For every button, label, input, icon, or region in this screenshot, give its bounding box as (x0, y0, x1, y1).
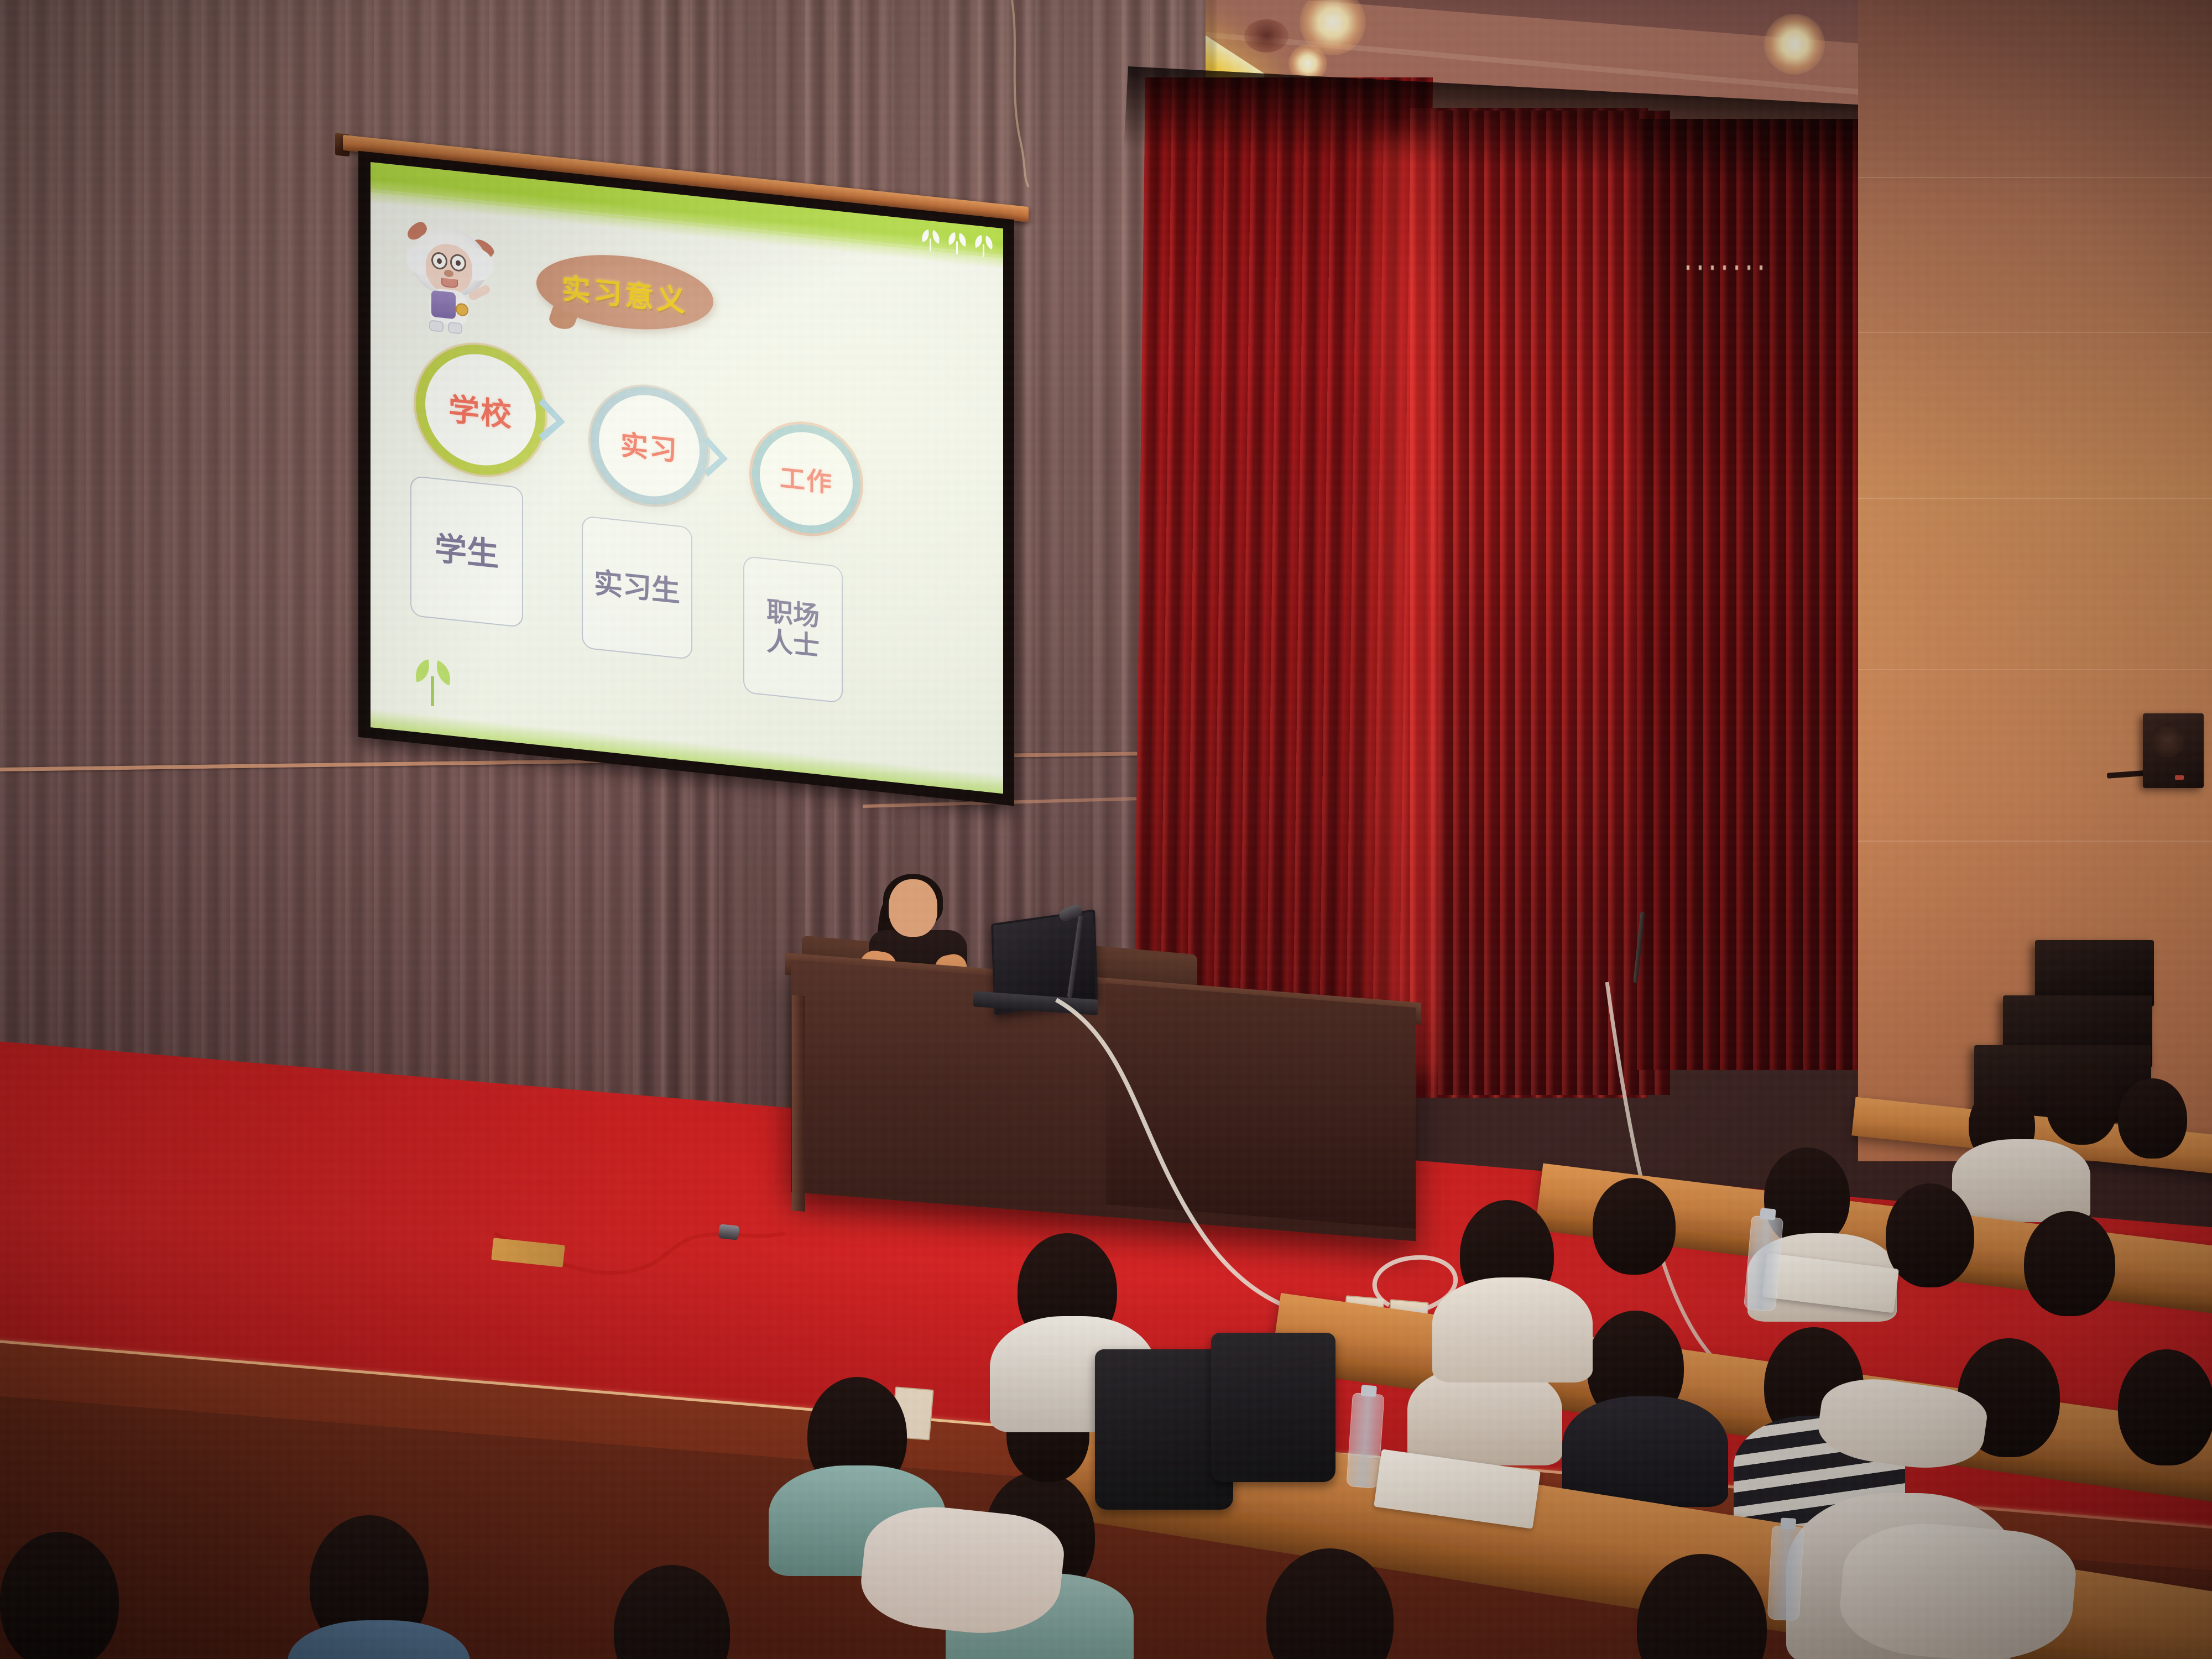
slide-title-bubble: 实习意义 (536, 247, 713, 338)
speaker-grill (2151, 723, 2185, 758)
sprout-icon (921, 229, 940, 253)
sprout-icon (974, 234, 993, 259)
role-box-student: 学生 (410, 476, 523, 628)
audience-head (2046, 1062, 2118, 1145)
downlight-3 (1764, 14, 1825, 75)
audience-head (2118, 1349, 2212, 1465)
red-curtain-panel-4 (1438, 111, 1670, 1095)
flow-circle-school-label: 学校 (448, 384, 513, 435)
flow-circle-school: 学校 (416, 338, 545, 482)
podium-desk-right-section (1106, 983, 1416, 1229)
sprout-icon (948, 232, 967, 256)
flow-circle-work-label: 工作 (780, 458, 833, 500)
ground-sprout-icon (414, 660, 452, 709)
backpack-2 (1211, 1333, 1335, 1482)
sheep-mascot-icon (403, 214, 495, 339)
audience-head (1593, 1178, 1676, 1275)
presentation-slide: 实习意义 学校 实习 (371, 162, 1003, 794)
flow-circle-internship: 实习 (591, 381, 708, 510)
wall-mounted-speaker (2143, 713, 2204, 788)
slide-title-text: 实习意义 (562, 265, 688, 320)
podium-left-side (792, 995, 805, 1212)
ceiling-vent-1 (1244, 19, 1288, 53)
audience-head (2024, 1211, 2115, 1316)
water-bottle-front (1767, 1526, 1804, 1621)
speaker-status-led (2175, 775, 2184, 780)
red-curtain-panel-5 (1637, 119, 1869, 1070)
audience-shoulders (1562, 1396, 1728, 1507)
role-box-professional: 职场 人士 (743, 556, 843, 703)
slide-bottom-green-strip (371, 708, 1003, 794)
audience-shoulders (1432, 1277, 1593, 1383)
auditorium-photo: 实习意义 学校 实习 (0, 0, 2212, 1659)
projection-screen: 实习意义 学校 实习 (343, 135, 1040, 899)
audience-head (2118, 1078, 2187, 1159)
screen-frame: 实习意义 学校 实习 (358, 151, 1014, 806)
audience-shoulders (1952, 1139, 2090, 1222)
floor-remote-device (718, 1224, 740, 1240)
equipment-indicator-leds (1687, 265, 1770, 270)
flow-circle-internship-label: 实习 (620, 423, 678, 469)
role-box-intern: 实习生 (582, 515, 692, 660)
audience-head (1886, 1183, 1974, 1287)
